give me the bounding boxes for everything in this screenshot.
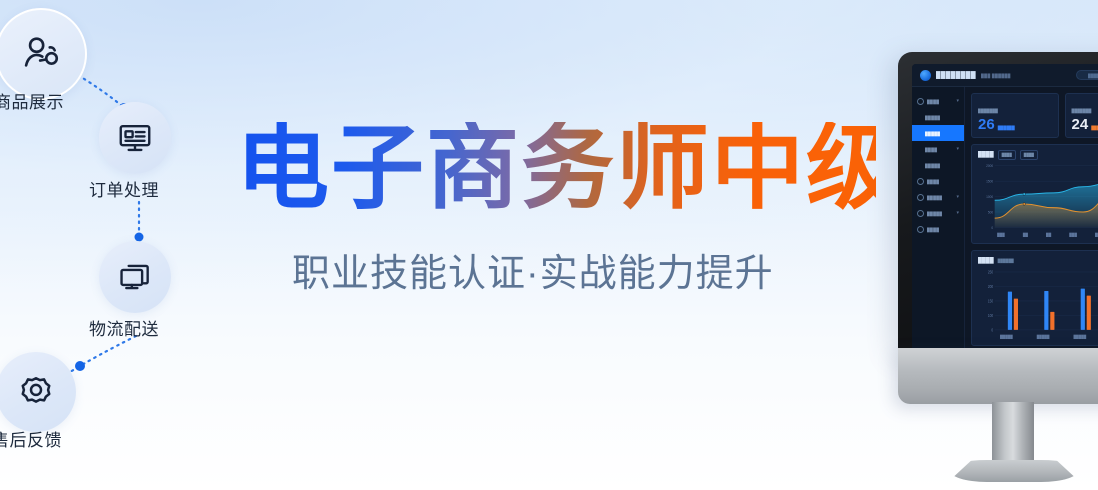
svg-text:500: 500 (988, 210, 993, 214)
monitor-chin (898, 348, 1098, 404)
monitor-illustration: ████████ ███ ██████ ██████ ████▾████████… (898, 52, 1098, 490)
svg-text:0: 0 (991, 226, 993, 230)
chevron-down-icon: ▾ (956, 211, 959, 216)
dashboard-sidebar: ████▾██████████████▾██████████████▾█████… (912, 87, 965, 352)
kpi-value: 26 (978, 117, 995, 132)
app-logo-icon (920, 70, 931, 81)
monitor-stand-foot (948, 460, 1080, 482)
sidebar-item-label: █████ (927, 211, 942, 216)
svg-text:100: 100 (988, 314, 993, 319)
page-title: 电子商务师中级 (236, 122, 876, 215)
chevron-down-icon: ▾ (956, 147, 959, 152)
sidebar-item-0[interactable]: ████▾ (912, 93, 964, 109)
stacked-monitors-icon (116, 258, 154, 296)
line-chart-card: ████ ████ ████ 2000150010005000 ███ (971, 144, 1098, 244)
bar-chart-x-labels: ████████████████████ (978, 333, 1098, 340)
monitor-screen: ████████ ███ ██████ ██████ ████▾████████… (912, 64, 1098, 352)
x-tick-3: ███ (1069, 233, 1077, 237)
bar-chart-card: ████ ██████ 2502001501000 ██████████████… (971, 250, 1098, 346)
sidebar-item-2[interactable]: █████ (912, 125, 964, 141)
flow-node-label: 商品展示 (0, 88, 64, 113)
page-subtitle: 职业技能认证·实战能力提升 (292, 252, 812, 298)
kpi-row: ███████26█████████████24██████ (971, 93, 1098, 138)
hero-banner: 商品展示 订单处理 物 (0, 0, 1098, 490)
sidebar-item-7[interactable]: █████▾ (912, 205, 964, 221)
app-brand-name: ████████ (936, 72, 976, 79)
area-chart-x-labels: ███████████████ (978, 231, 1098, 238)
bar-card-title: ████ (978, 258, 994, 264)
chevron-down-icon: ▾ (956, 99, 959, 104)
card-header: ████ ████ ████ (978, 150, 1098, 160)
flow-node-label: 订单处理 (89, 176, 159, 201)
sidebar-item-3[interactable]: ████▾ (912, 141, 964, 157)
sidebar-item-1[interactable]: █████ (912, 109, 964, 125)
sidebar-item-5[interactable]: ████ (912, 173, 964, 189)
flow-node-circle (0, 352, 76, 432)
svg-text:2000: 2000 (986, 164, 993, 168)
user-person-icon (20, 33, 62, 75)
x-tick-1: ██ (1023, 233, 1028, 237)
kpi-caption: ███████ (978, 108, 998, 113)
flow-node-label: 售后反馈 (0, 426, 62, 451)
monitor-bezel: ████████ ███ ██████ ██████ ████▾████████… (898, 52, 1098, 352)
flow-node-circle (99, 241, 171, 313)
sidebar-item-icon (917, 194, 924, 201)
kpi-delta: ██████ (1091, 126, 1098, 130)
chevron-down-icon: ▾ (956, 195, 959, 200)
dashboard-body: ████▾██████████████▾██████████████▾█████… (912, 87, 1098, 352)
sidebar-item-label: █████ (925, 131, 940, 136)
search-placeholder: ██████ (1088, 73, 1098, 78)
svg-text:1000: 1000 (986, 195, 993, 199)
chip-label: ████ (1024, 153, 1034, 157)
sidebar-item-8[interactable]: ████ (912, 221, 964, 237)
kpi-card-1: ███████24██████ (1065, 93, 1098, 138)
line-card-title: ████ (978, 152, 994, 158)
flow-node-circle (99, 102, 171, 174)
card-header: ████ ██████ (978, 256, 1098, 266)
sidebar-item-label: ████ (925, 147, 937, 152)
bar-chart-plot: 2502001501000 (978, 269, 1098, 333)
kpi-card-0: ███████26██████ (971, 93, 1059, 138)
sidebar-item-label: ████ (927, 227, 939, 232)
sidebar-item-icon (917, 98, 924, 105)
svg-text:0: 0 (991, 328, 993, 333)
kpi-caption: ███████ (1072, 108, 1092, 113)
svg-text:150: 150 (988, 299, 993, 304)
app-brand-subtitle: ███ ██████ (981, 73, 1011, 78)
x-tick-2: █████ (1074, 335, 1087, 339)
topbar-search[interactable]: ██████ (1076, 70, 1098, 80)
sidebar-item-6[interactable]: █████▾ (912, 189, 964, 205)
line-card-chip-2[interactable]: ████ (1020, 150, 1038, 160)
dashboard-main: ███████26█████████████24██████ ████ ████ (965, 87, 1098, 352)
bar-card-subtitle: ██████ (998, 259, 1014, 263)
svg-text:200: 200 (988, 285, 993, 290)
x-tick-0: █████ (1000, 335, 1013, 339)
line-card-chip-1[interactable]: ████ (998, 150, 1016, 160)
sidebar-item-icon (917, 226, 924, 233)
sidebar-item-icon (917, 210, 924, 217)
sidebar-item-icon (917, 178, 924, 185)
dashboard-app: ████████ ███ ██████ ██████ ████▾████████… (912, 64, 1098, 352)
sidebar-item-label: █████ (925, 115, 940, 120)
gear-icon (16, 372, 56, 412)
sidebar-item-label: █████ (927, 195, 942, 200)
area-chart-plot: 2000150010005000 (978, 163, 1098, 231)
monitor-form-icon (116, 119, 154, 157)
kpi-value-row: 24██████ (1072, 117, 1098, 132)
sidebar-item-label: ████ (927, 179, 939, 184)
kpi-value-row: 26██████ (978, 117, 1052, 132)
dashboard-topbar: ████████ ███ ██████ ██████ (912, 64, 1098, 87)
svg-text:250: 250 (988, 270, 993, 275)
svg-text:1500: 1500 (986, 179, 993, 183)
sidebar-item-label: █████ (925, 163, 940, 168)
flow-node-label: 物流配送 (89, 315, 159, 340)
search-icon (1081, 73, 1086, 78)
kpi-delta: ██████ (998, 126, 1015, 130)
chip-label: ████ (1002, 153, 1012, 157)
kpi-value: 24 (1072, 117, 1089, 132)
sidebar-item-4[interactable]: █████ (912, 157, 964, 173)
x-tick-1: █████ (1037, 335, 1050, 339)
monitor-stand-neck (992, 402, 1034, 468)
x-tick-0: ███ (997, 233, 1005, 237)
x-tick-2: ██ (1046, 233, 1051, 237)
sidebar-item-label: ████ (927, 99, 939, 104)
